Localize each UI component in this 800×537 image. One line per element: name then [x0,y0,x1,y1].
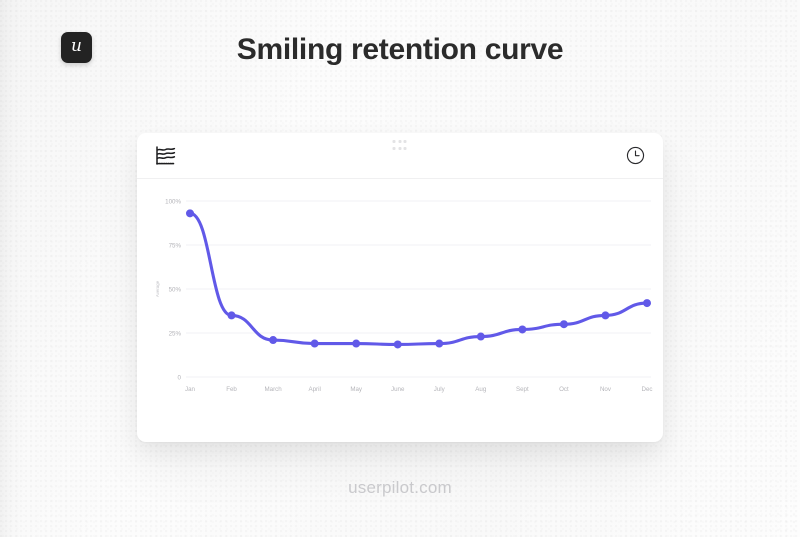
y-axis-tick-label: 100% [165,198,181,205]
data-point-feb[interactable] [228,311,236,319]
x-axis-tick-label: March [264,386,282,393]
x-axis-tick-label: Oct [559,386,569,393]
data-point-may[interactable] [352,340,360,348]
data-point-nov[interactable] [601,311,609,319]
data-point-april[interactable] [311,340,319,348]
clock-icon[interactable] [625,145,646,166]
chart-plot-area: 100%75%50%25%0AverageJanFebMarchAprilMay… [137,179,663,441]
y-axis-tick-label: 25% [169,330,182,337]
drag-dot [398,140,401,143]
x-axis-tick-label: Dec [641,386,652,393]
page-title: Smiling retention curve [0,33,800,67]
y-axis-tick-label: 75% [169,242,182,249]
retention-line-chart[interactable]: 100%75%50%25%0AverageJanFebMarchAprilMay… [137,179,663,441]
x-axis-tick-label: Jan [185,386,196,393]
chart-card: 100%75%50%25%0AverageJanFebMarchAprilMay… [137,133,663,442]
drag-dot [404,140,407,143]
page-background-left-band [0,0,26,537]
data-point-jan[interactable] [186,209,194,217]
data-point-march[interactable] [269,336,277,344]
data-point-sept[interactable] [518,325,526,333]
data-point-aug[interactable] [477,333,485,341]
data-point-dec[interactable] [643,299,651,307]
area-chart-icon[interactable] [154,144,178,168]
x-axis-tick-label: Feb [226,386,237,393]
x-axis-tick-label: Nov [600,386,612,393]
chart-card-header [137,133,663,179]
data-point-july[interactable] [435,340,443,348]
x-axis-tick-label: July [434,386,446,393]
y-axis-tick-label: 50% [169,286,182,293]
x-axis-tick-label: April [308,386,320,393]
drag-handle-icon[interactable] [393,140,408,151]
drag-dot [398,147,401,150]
x-axis-tick-label: May [350,386,363,393]
drag-dot [404,147,407,150]
x-axis-tick-label: June [391,386,405,393]
data-point-june[interactable] [394,340,402,348]
x-axis-tick-label: Aug [475,386,487,393]
y-axis-title: Average [155,280,160,297]
site-watermark: userpilot.com [0,478,800,498]
series-line[interactable] [190,213,647,344]
x-axis-tick-label: Sept [516,386,529,393]
drag-dot [393,147,396,150]
drag-dot [393,140,396,143]
data-point-oct[interactable] [560,320,568,328]
y-axis-tick-label: 0 [178,374,182,381]
